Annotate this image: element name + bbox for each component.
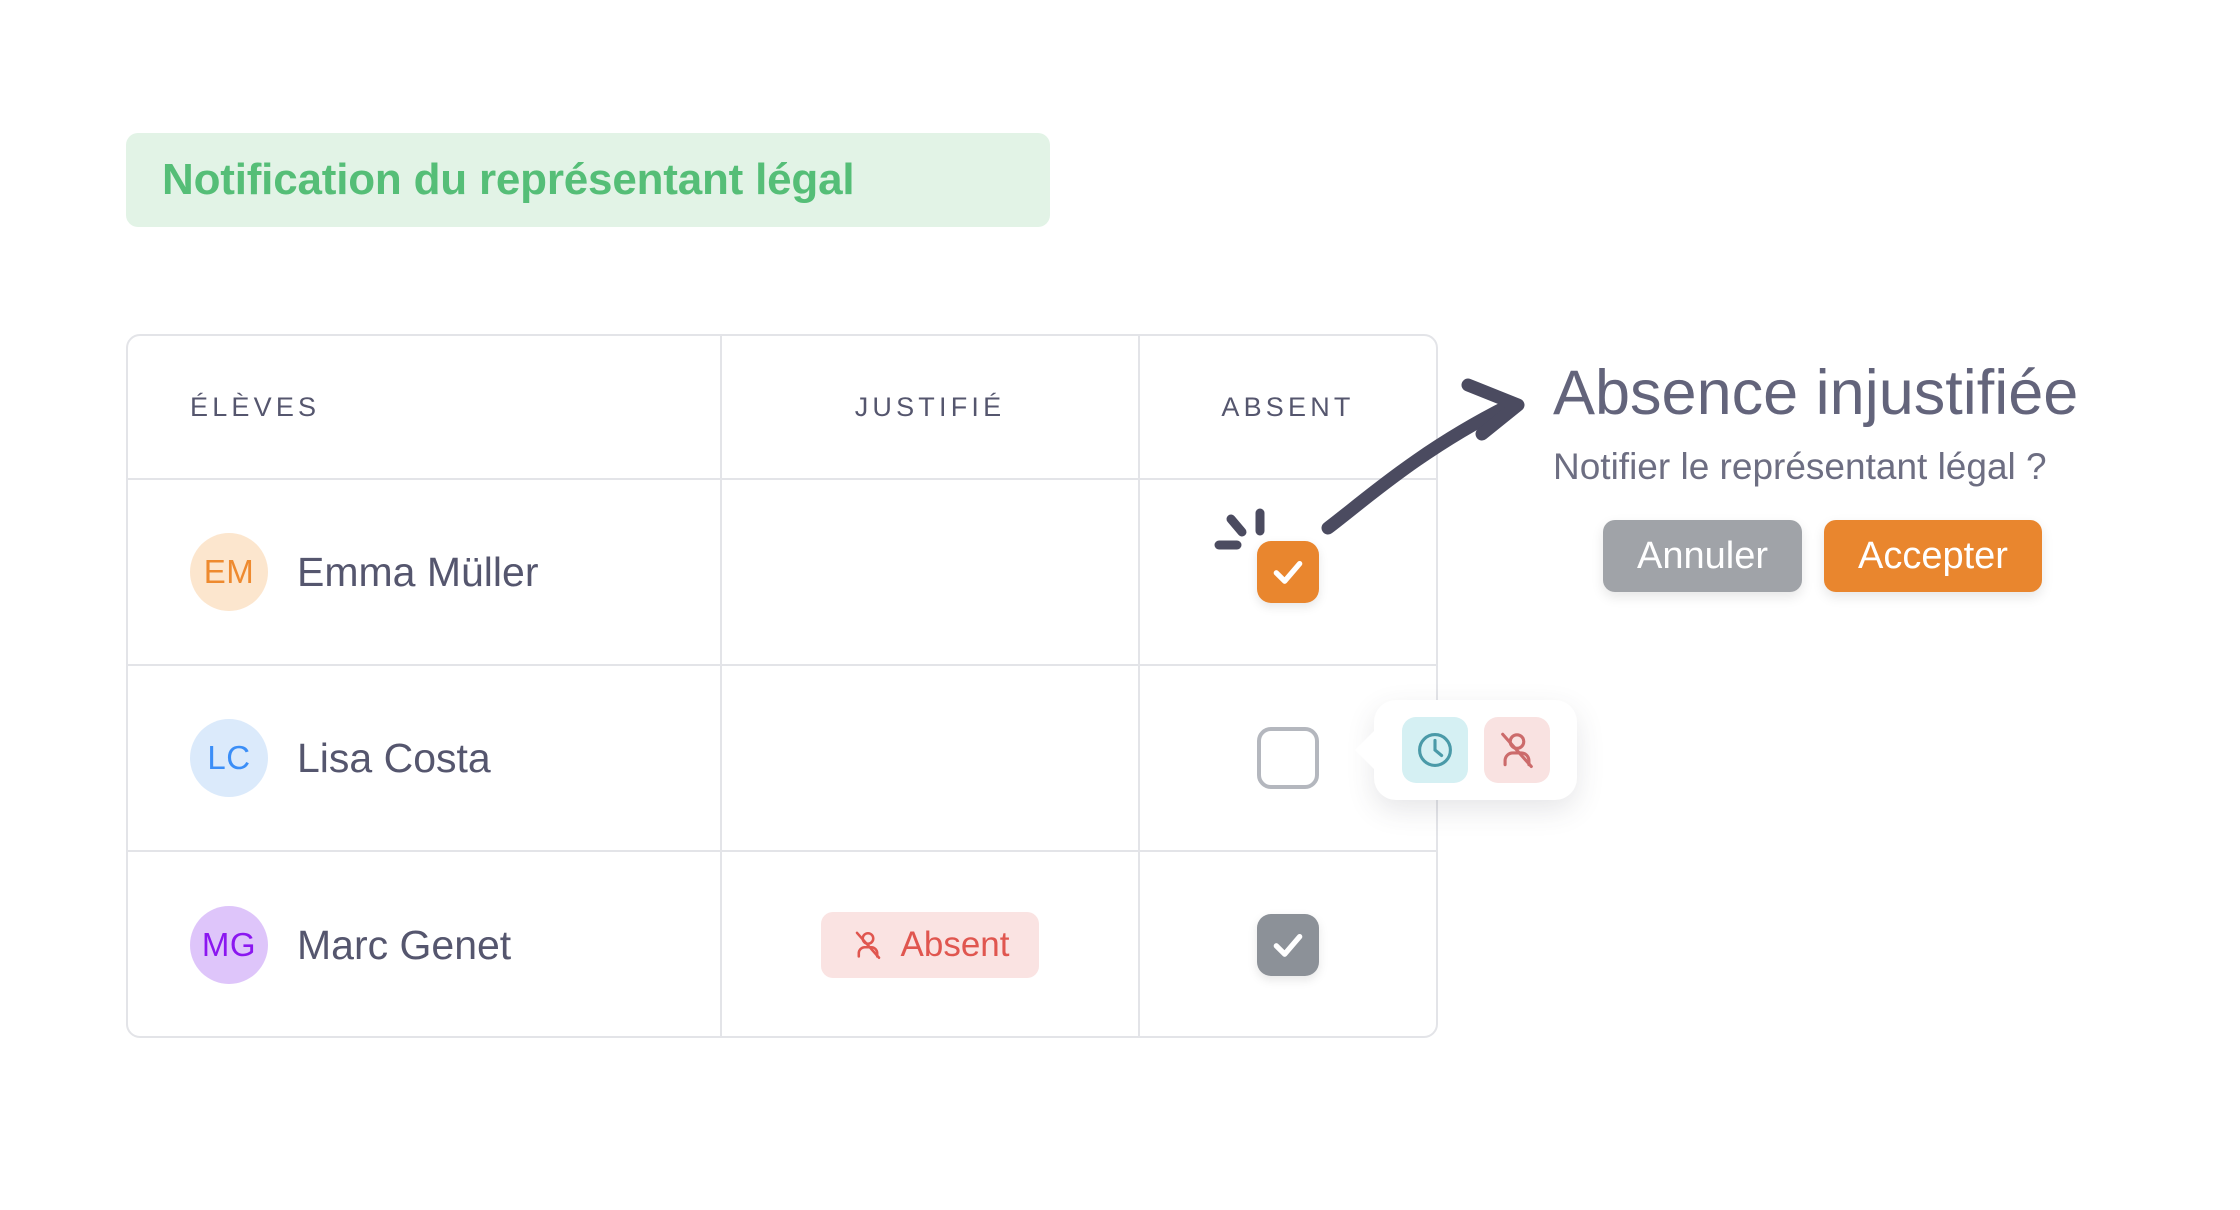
- dialog-actions: Annuler Accepter: [1553, 520, 2193, 592]
- mark-absent-button[interactable]: [1484, 717, 1550, 783]
- table-row: EM Emma Müller: [128, 480, 1436, 666]
- table-row: MG Marc Genet Absent: [128, 852, 1436, 1038]
- column-header-justifie-label: JUSTIFIÉ: [722, 392, 1138, 423]
- column-header-eleves: ÉLÈVES: [128, 336, 722, 478]
- student-cell: LC Lisa Costa: [128, 666, 722, 850]
- absent-checkbox-marc[interactable]: [1257, 914, 1319, 976]
- student-name: Lisa Costa: [297, 735, 491, 782]
- column-header-eleves-label: ÉLÈVES: [190, 392, 320, 423]
- clock-icon: [1413, 728, 1457, 772]
- click-burst-icon: [1211, 489, 1281, 559]
- status-badge-label: Absent: [901, 925, 1010, 965]
- page-title: Absence injustifiée: [1553, 360, 2193, 426]
- dialog-subtitle: Notifier le représentant légal ?: [1553, 446, 2193, 488]
- absent-checkbox-lisa[interactable]: [1257, 727, 1319, 789]
- student-cell: EM Emma Müller: [128, 480, 722, 664]
- student-cell: MG Marc Genet: [128, 852, 722, 1038]
- table-header-row: ÉLÈVES JUSTIFIÉ ABSENT: [128, 336, 1436, 480]
- accept-button[interactable]: Accepter: [1824, 520, 2042, 592]
- avatar: MG: [190, 906, 268, 984]
- mark-late-button[interactable]: [1402, 717, 1468, 783]
- attendance-action-popover: [1374, 700, 1577, 800]
- absent-checkbox-emma[interactable]: [1257, 541, 1319, 603]
- checkmark-icon: [1268, 552, 1308, 592]
- notification-dialog: Absence injustifiée Notifier le représen…: [1553, 360, 2193, 592]
- column-header-absent-label: ABSENT: [1140, 392, 1436, 423]
- status-badge: Absent: [821, 912, 1040, 978]
- column-header-justifie: JUSTIFIÉ: [722, 336, 1140, 478]
- cancel-button[interactable]: Annuler: [1603, 520, 1802, 592]
- justified-cell: [722, 666, 1140, 850]
- student-name: Marc Genet: [297, 922, 511, 969]
- column-header-absent: ABSENT: [1140, 336, 1436, 478]
- justified-cell: Absent: [722, 852, 1140, 1038]
- student-name: Emma Müller: [297, 549, 538, 596]
- justified-cell: [722, 480, 1140, 664]
- table-row: LC Lisa Costa: [128, 666, 1436, 852]
- user-absent-icon: [1495, 728, 1539, 772]
- banner-title: Notification du représentant légal: [162, 155, 854, 205]
- absent-cell: [1140, 480, 1436, 664]
- notification-banner: Notification du représentant légal: [126, 133, 1050, 227]
- user-absent-icon: [851, 928, 885, 962]
- avatar: LC: [190, 719, 268, 797]
- attendance-table: ÉLÈVES JUSTIFIÉ ABSENT EM Emma Müller: [126, 334, 1438, 1038]
- absent-cell: [1140, 852, 1436, 1038]
- checkmark-icon: [1268, 925, 1308, 965]
- avatar: EM: [190, 533, 268, 611]
